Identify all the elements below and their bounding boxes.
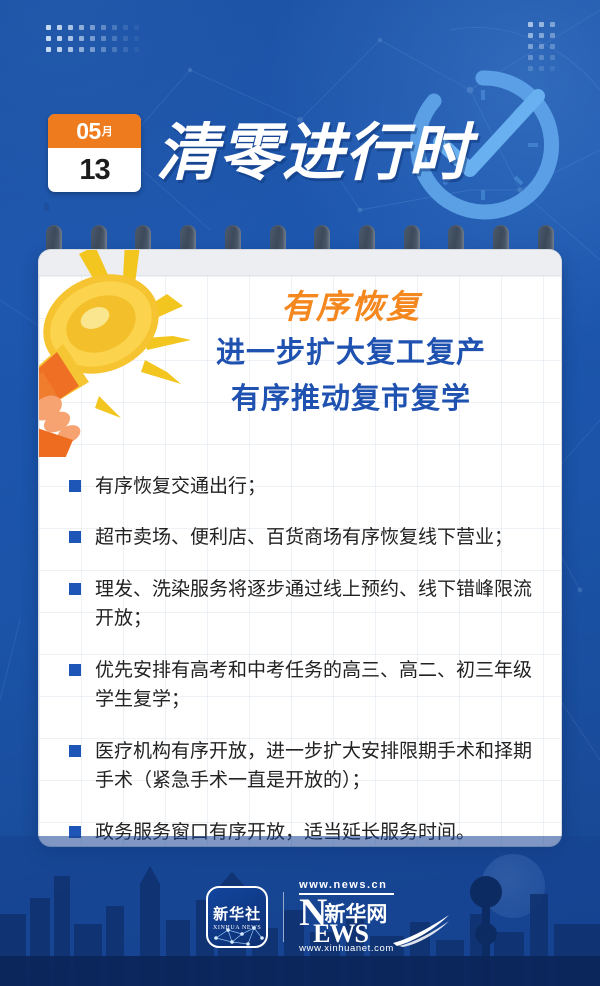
- poster-header: 05 月 13 清零进行时: [0, 96, 600, 206]
- calendar-tab-decoration: [44, 203, 49, 211]
- notepad-card: 有序恢复 进一步扩大复工复产 有序推动复市复学 有序恢复交通出行； 超市卖场、便…: [38, 249, 562, 847]
- list-item-text: 理发、洗染服务将逐步通过线上预约、线下错峰限流开放；: [95, 575, 539, 634]
- footer-logos: 新华社 XINHUA NEWS www.news.cn N 新华网 EWS: [0, 879, 600, 954]
- xinhuanet-logo: www.news.cn N 新华网 EWS www.xinhuanet.com: [299, 879, 394, 954]
- calendar-month-unit: 月: [102, 123, 113, 139]
- list-item: 医疗机构有序开放，进一步扩大安排限期手术和择期手术（紧急手术一直是开放的）；: [69, 737, 539, 796]
- bullet-square-icon: [69, 583, 81, 595]
- list-item-text: 超市卖场、便利店、百货商场有序恢复线下营业；: [95, 523, 513, 552]
- network-nodes-icon: [208, 922, 268, 948]
- calendar-month: 05: [76, 118, 101, 145]
- list-item: 理发、洗染服务将逐步通过线上预约、线下错峰限流开放；: [69, 575, 539, 634]
- calendar-date-badge: 05 月 13: [48, 114, 141, 192]
- xinhuanet-word-ews: EWS: [313, 921, 368, 947]
- measures-list: 有序恢复交通出行； 超市卖场、便利店、百货商场有序恢复线下营业； 理发、洗染服务…: [69, 472, 539, 847]
- headline-orange: 有序恢复: [149, 286, 553, 327]
- headline-blue-line-1: 进一步扩大复工复产: [149, 331, 553, 373]
- list-item: 超市卖场、便利店、百货商场有序恢复线下营业；: [69, 523, 539, 552]
- headline-block: 有序恢复 进一步扩大复工复产 有序推动复市复学: [149, 286, 553, 419]
- list-item: 优先安排有高考和中考任务的高三、高二、初三年级学生复学；: [69, 656, 539, 715]
- list-item-text: 医疗机构有序开放，进一步扩大安排限期手术和择期手术（紧急手术一直是开放的）；: [95, 737, 539, 796]
- calendar-day: 13: [48, 148, 141, 192]
- list-item-text: 优先安排有高考和中考任务的高三、高二、初三年级学生复学；: [95, 656, 539, 715]
- xinhua-agency-name-cn: 新华社: [213, 903, 261, 924]
- swoosh-icon: [391, 913, 451, 947]
- headline-blue-line-2: 有序推动复市复学: [149, 377, 553, 419]
- xinhuanet-wordmark: N 新华网 EWS: [299, 897, 387, 929]
- bullet-square-icon: [69, 531, 81, 543]
- calendar-month-band: 05 月: [48, 114, 141, 148]
- list-item: 有序恢复交通出行；: [69, 472, 539, 501]
- footer-divider: [283, 892, 284, 942]
- dot-grid-decoration-left: [46, 25, 145, 58]
- list-item-text: 有序恢复交通出行；: [95, 472, 266, 501]
- bullet-square-icon: [69, 664, 81, 676]
- bullet-square-icon: [69, 745, 81, 757]
- bullet-square-icon: [69, 480, 81, 492]
- page-title: 清零进行时: [156, 102, 471, 192]
- xinhua-agency-logo: 新华社 XINHUA NEWS: [206, 886, 268, 948]
